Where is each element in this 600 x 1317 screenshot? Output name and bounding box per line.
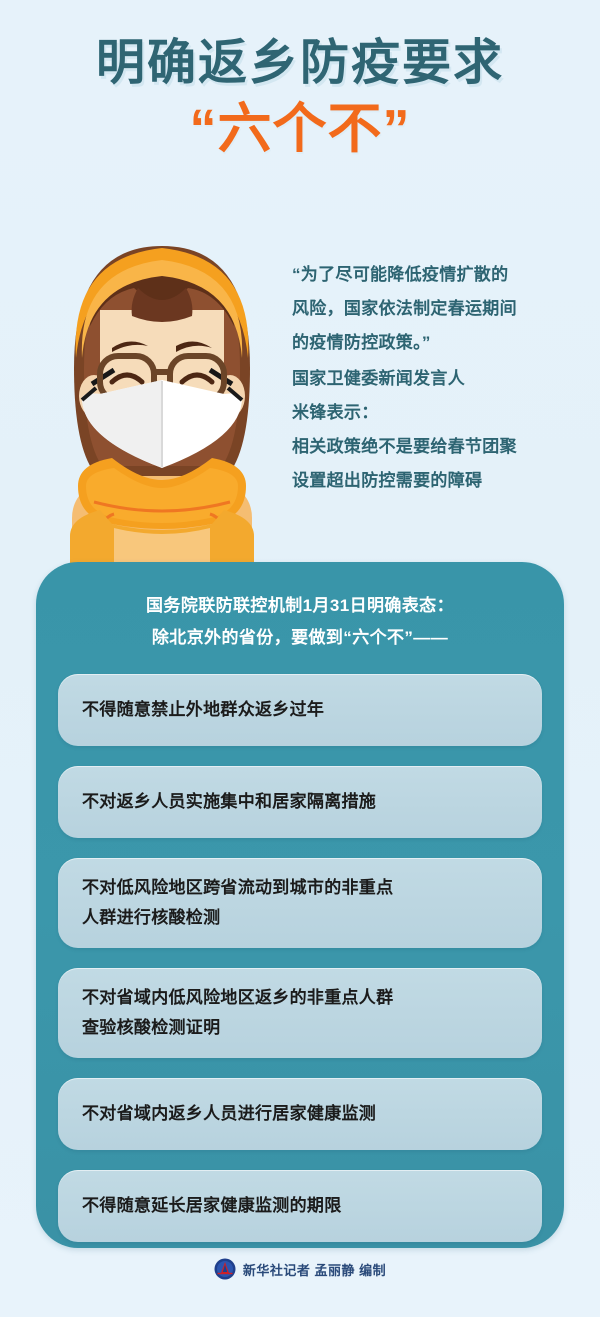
list-item[interactable]: 不对省域内低风险地区返乡的非重点人群 查验核酸检测证明	[58, 968, 542, 1058]
list-item-text: 不对返乡人员实施集中和居家隔离措施	[82, 787, 518, 817]
attribution-line: 设置超出防控需要的障碍	[292, 464, 574, 498]
panel-heading-line: 国务院联防联控机制1月31日明确表态：	[62, 590, 538, 622]
list-item-line: 人群进行核酸检测	[82, 903, 518, 933]
list-item-text: 不对低风险地区跨省流动到城市的非重点 人群进行核酸检测	[82, 873, 518, 933]
list-item[interactable]: 不对省域内返乡人员进行居家健康监测	[58, 1078, 542, 1150]
attribution-line: 相关政策绝不是要给春节团聚	[292, 430, 574, 464]
panel-heading-line: 除北京外的省份，要做到“六个不”——	[62, 622, 538, 654]
footer-credit: 新华社记者 孟丽静 编制	[0, 1258, 600, 1280]
list-item[interactable]: 不对低风险地区跨省流动到城市的非重点 人群进行核酸检测	[58, 858, 542, 948]
panel-heading: 国务院联防联控机制1月31日明确表态： 除北京外的省份，要做到“六个不”——	[36, 562, 564, 658]
list-item-text: 不对省域内返乡人员进行居家健康监测	[82, 1099, 518, 1129]
list-item-line: 不对省域内低风险地区返乡的非重点人群	[82, 983, 518, 1013]
list-item-line: 不得随意禁止外地群众返乡过年	[82, 695, 518, 725]
list-item-text: 不得随意禁止外地群众返乡过年	[82, 695, 518, 725]
list-item-text: 不得随意延长居家健康监测的期限	[82, 1191, 518, 1221]
quote-text: “为了尽可能降低疫情扩散的 风险，国家依法制定春运期间 的疫情防控政策。”	[292, 258, 574, 360]
quote-line: 风险，国家依法制定春运期间	[292, 292, 574, 326]
list-item[interactable]: 不得随意延长居家健康监测的期限	[58, 1170, 542, 1242]
list-item-line: 不得随意延长居家健康监测的期限	[82, 1191, 518, 1221]
list-item-line: 不对省域内返乡人员进行居家健康监测	[82, 1099, 518, 1129]
quote-line: 的疫情防控政策。”	[292, 326, 574, 360]
list-item[interactable]: 不对返乡人员实施集中和居家隔离措施	[58, 766, 542, 838]
infographic-poster: 明确返乡防疫要求 “六个不”	[0, 0, 600, 1317]
masked-woman-icon	[42, 218, 282, 568]
attribution-line: 米锋表示：	[292, 396, 574, 430]
policy-panel: 国务院联防联控机制1月31日明确表态： 除北京外的省份，要做到“六个不”—— 不…	[36, 562, 564, 1248]
list-item-line: 查验核酸检测证明	[82, 1013, 518, 1043]
masked-woman-illustration	[42, 218, 282, 568]
quote-block: “为了尽可能降低疫情扩散的 风险，国家依法制定春运期间 的疫情防控政策。” 国家…	[292, 258, 574, 498]
quote-attribution: 国家卫健委新闻发言人 米锋表示： 相关政策绝不是要给春节团聚 设置超出防控需要的…	[292, 362, 574, 498]
title-block: 明确返乡防疫要求 “六个不”	[0, 38, 600, 158]
list-item[interactable]: 不得随意禁止外地群众返乡过年	[58, 674, 542, 746]
list-item-text: 不对省域内低风险地区返乡的非重点人群 查验核酸检测证明	[82, 983, 518, 1043]
page-subtitle: “六个不”	[0, 101, 600, 158]
attribution-line: 国家卫健委新闻发言人	[292, 362, 574, 396]
footer-credit-text: 新华社记者 孟丽静 编制	[243, 1260, 386, 1279]
policy-list: 不得随意禁止外地群众返乡过年 不对返乡人员实施集中和居家隔离措施 不对低风险地区…	[36, 658, 564, 1242]
page-title: 明确返乡防疫要求	[0, 38, 600, 89]
list-item-line: 不对低风险地区跨省流动到城市的非重点	[82, 873, 518, 903]
list-item-line: 不对返乡人员实施集中和居家隔离措施	[82, 787, 518, 817]
quote-line: “为了尽可能降低疫情扩散的	[292, 258, 574, 292]
xinhua-logo-icon	[214, 1258, 236, 1280]
